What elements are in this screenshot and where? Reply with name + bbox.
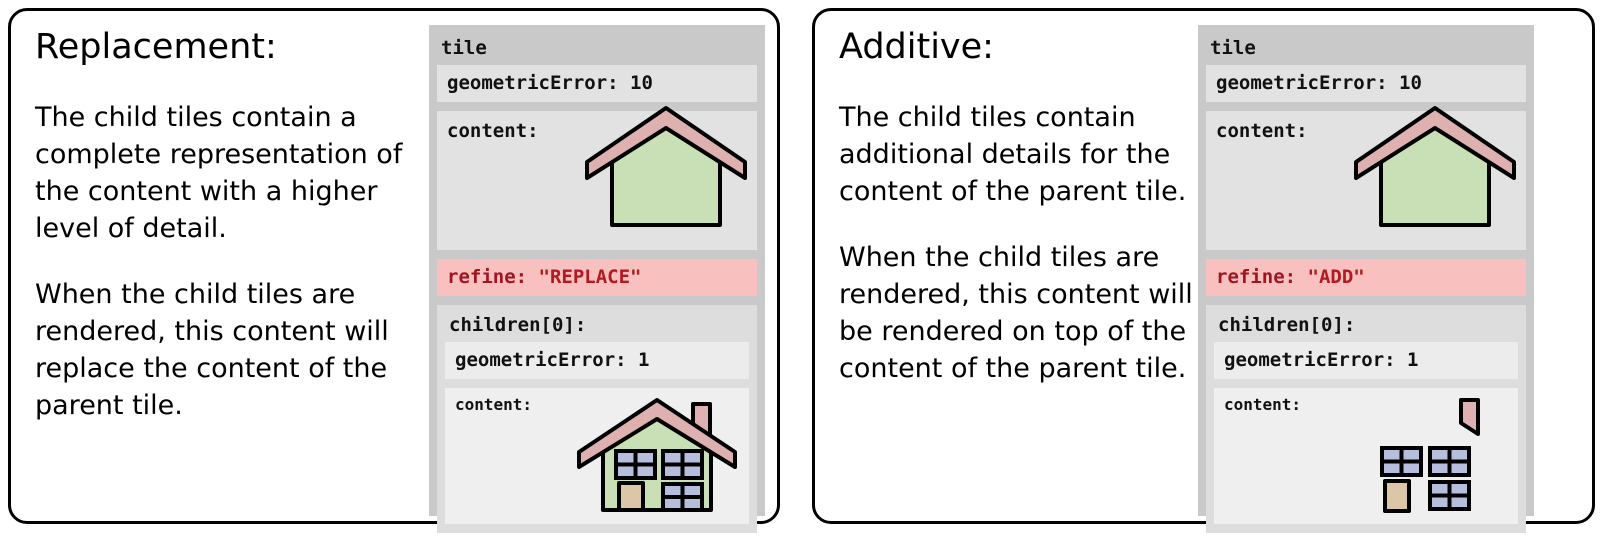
child-geometric-error: geometricError: 1	[445, 342, 749, 379]
panel-additive: Additive: The child tiles contain additi…	[812, 8, 1595, 524]
panel-additive-paragraph-1: The child tiles contain additional detai…	[839, 99, 1194, 210]
house-details-only-icon	[1360, 390, 1510, 522]
diagram-root: Replacement: The child tiles contain a c…	[0, 0, 1603, 540]
tile-diagram-additive: tile geometricError: 10 content: refine:…	[1198, 25, 1534, 516]
tile-content-box: content:	[437, 111, 757, 250]
tile-refine-row: refine: "REPLACE"	[437, 259, 757, 296]
tile-refine-row: refine: "ADD"	[1206, 259, 1526, 296]
tile-refine-key: refine:	[1216, 266, 1296, 288]
tile-label: tile	[1206, 33, 1526, 65]
panel-replacement-text: Replacement: The child tiles contain a c…	[35, 25, 425, 453]
tile-children-box: children[0]: geometricError: 1 content:	[437, 305, 757, 533]
panel-replacement-paragraph-1: The child tiles contain a complete repre…	[35, 99, 425, 247]
tile-refine-value: "REPLACE"	[539, 266, 642, 288]
panel-replacement-title: Replacement:	[35, 25, 425, 69]
tile-refine-value: "ADD"	[1308, 266, 1365, 288]
children-label: children[0]:	[445, 311, 749, 342]
child-geometric-error: geometricError: 1	[1214, 342, 1518, 379]
panel-replacement: Replacement: The child tiles contain a c…	[8, 8, 780, 524]
detailed-house-icon	[571, 390, 743, 524]
tile-geometric-error: geometricError: 10	[437, 65, 757, 102]
panel-replacement-paragraph-2: When the child tiles are rendered, this …	[35, 276, 425, 424]
tile-diagram-replacement: tile geometricError: 10 content: refine:…	[429, 25, 765, 516]
tile-geometric-error: geometricError: 10	[1206, 65, 1526, 102]
panel-additive-text: Additive: The child tiles contain additi…	[839, 25, 1229, 416]
child-content-box: content:	[445, 388, 749, 524]
simple-house-icon	[577, 103, 755, 242]
panel-additive-title: Additive:	[839, 25, 1229, 69]
tile-label: tile	[437, 33, 757, 65]
child-content-box: content:	[1214, 388, 1518, 524]
tile-refine-key: refine:	[447, 266, 527, 288]
children-label: children[0]:	[1214, 311, 1518, 342]
simple-house-icon	[1346, 103, 1524, 242]
tile-content-box: content:	[1206, 111, 1526, 250]
tile-children-box: children[0]: geometricError: 1 content:	[1206, 305, 1526, 533]
panel-additive-paragraph-2: When the child tiles are rendered, this …	[839, 239, 1194, 387]
